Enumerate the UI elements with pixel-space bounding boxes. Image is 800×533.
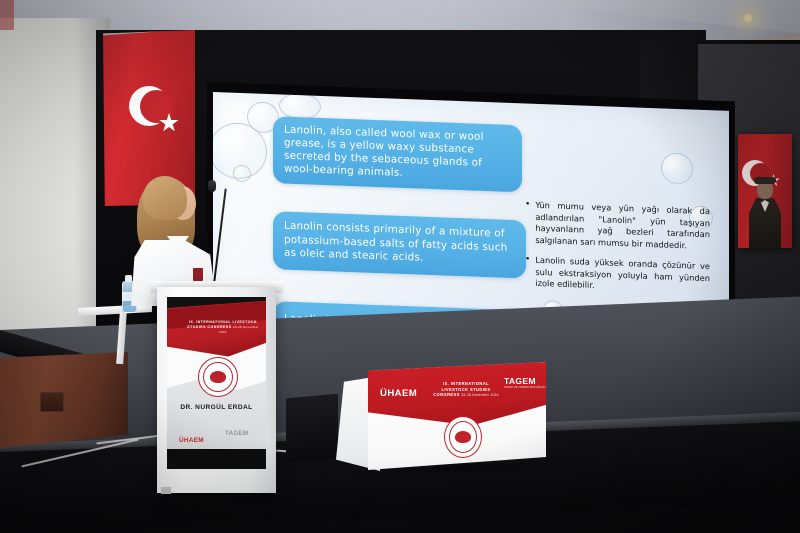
floor-standee-sign: ÜHAEM IX. INTERNATIONAL LIVESTOCK STUDIE… (336, 362, 546, 478)
hair-front (143, 176, 187, 220)
bubble-decoration (661, 152, 693, 184)
list-item-text: Yün mumu veya yün yağı olarak da adlandı… (535, 200, 710, 253)
list-item: • Lanolin suda yüksek oranda çözünür ve … (525, 254, 710, 296)
ceiling-spotlight (742, 13, 754, 23)
standee-front-panel: ÜHAEM IX. INTERNATIONAL LIVESTOCK STUDIE… (368, 362, 546, 470)
microphone-icon (208, 180, 216, 192)
portrait-hat (754, 177, 776, 184)
standee-congress-title: IX. INTERNATIONAL LIVESTOCK STUDIES CONG… (430, 381, 502, 399)
standee-logo-uhaem: ÜHAEM (380, 388, 417, 399)
congress-emblem-icon (198, 357, 238, 397)
slide-text-box: Lanolin, also called wool wax or wool gr… (273, 116, 522, 192)
standee-logo-tagem-subtext: TARIM VE ORMAN BAKANLIĞI (504, 386, 546, 389)
standee-logo-tagem-text: TAGEM (504, 376, 536, 386)
speaker-name: DR. NURGÜL ERDAL (175, 403, 258, 412)
standee-congress-date: 26-28 November 2024 (461, 393, 498, 397)
podium-congress-title: IX. INTERNATIONAL LIVESTOCK STUDIES CONG… (185, 320, 261, 335)
slide-text-box: Lanolin consists primarily of a mixture … (273, 211, 526, 278)
corner-red-sliver (0, 0, 14, 30)
podium-logo-uhaem: ÜHAEM (179, 437, 204, 444)
list-item: • Yün mumu veya yün yağı olarak da adlan… (525, 199, 710, 253)
wall-vent (40, 392, 64, 412)
name-badge (193, 268, 203, 281)
podium-logo-tagem: TAGEM (225, 430, 248, 437)
slide-text-box-text: Lanolin consists primarily of a mixture … (284, 220, 515, 269)
speaker-name-prefix: DR. (180, 404, 193, 411)
congress-emblem-icon (444, 416, 482, 458)
bullet-icon: • (525, 254, 530, 289)
standee-logo-tagem: TAGEM TARIM VE ORMAN BAKANLIĞI (504, 376, 546, 389)
slide-text-box-text: Lanolin, also called wool wax or wool gr… (284, 124, 511, 184)
slide-turkish-bullets: • Yün mumu veya yün yağı olarak da adlan… (525, 199, 710, 304)
podium-panel-bottom-band (167, 449, 266, 469)
bubble-decoration (233, 165, 251, 183)
podium-foot (161, 487, 171, 494)
emblem-center (455, 431, 471, 443)
bullet-icon: • (525, 199, 530, 246)
wood-wall-panel (0, 352, 128, 448)
emblem-center (210, 371, 226, 383)
conference-photo: Lanolin, also called wool wax or wool gr… (0, 0, 800, 533)
speaker-name-text: NURGÜL ERDAL (195, 404, 252, 411)
list-item-text: Lanolin suda yüksek oranda çözünür ve su… (535, 255, 710, 297)
ataturk-portrait (748, 178, 782, 248)
podium-panel: IX. INTERNATIONAL LIVESTOCK STUDIES CONG… (167, 297, 266, 469)
confidence-monitor (286, 394, 338, 463)
